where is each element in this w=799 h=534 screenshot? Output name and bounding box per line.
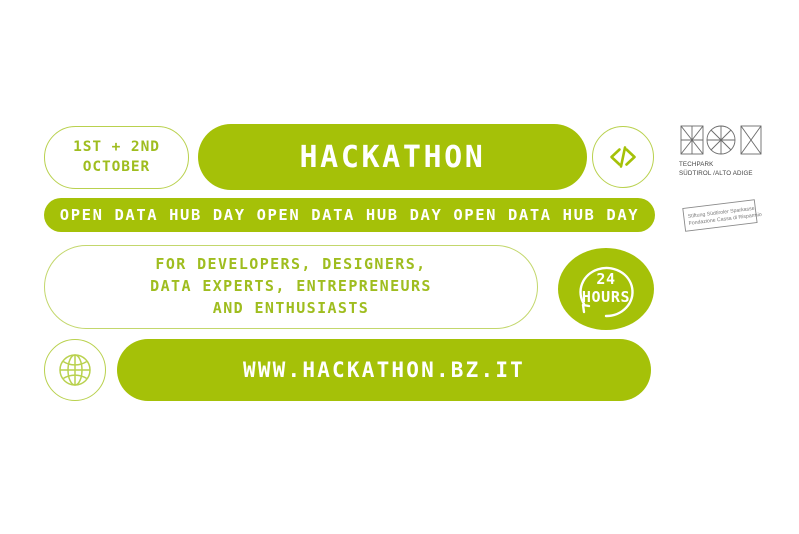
duration-label: HOURS bbox=[582, 289, 630, 307]
duration-badge: 24 HOURS bbox=[558, 248, 654, 330]
open-data-hub-day-strip: OPEN DATA HUB DAY OPEN DATA HUB DAY OPEN… bbox=[44, 198, 655, 232]
date-badge-line-2: OCTOBER bbox=[83, 158, 150, 177]
hackathon-banner: 1ST + 2ND OCTOBER HACKATHON OPEN DATA HU… bbox=[0, 0, 799, 534]
audience-line-2: DATA EXPERTS, ENTREPRENEURS bbox=[150, 276, 432, 298]
website-url-bar[interactable]: WWW.HACKATHON.BZ.IT bbox=[117, 339, 651, 401]
noi-mark-icon bbox=[679, 124, 763, 156]
date-badge-line-1: 1ST + 2ND bbox=[73, 138, 160, 157]
noi-techpark-logo: TECHPARK SÜDTIROL /ALTO ADIGE bbox=[679, 124, 763, 172]
globe-icon-badge bbox=[44, 339, 106, 401]
hackathon-title-pill: HACKATHON bbox=[198, 124, 587, 190]
globe-icon bbox=[54, 349, 96, 391]
audience-line-3: AND ENTHUSIASTS bbox=[213, 298, 369, 320]
code-icon-badge bbox=[592, 126, 654, 188]
code-icon bbox=[603, 137, 643, 177]
audience-box: FOR DEVELOPERS, DESIGNERS, DATA EXPERTS,… bbox=[44, 245, 538, 329]
strip-text: OPEN DATA HUB DAY OPEN DATA HUB DAY OPEN… bbox=[60, 206, 639, 224]
date-badge: 1ST + 2ND OCTOBER bbox=[44, 126, 189, 189]
page-title: HACKATHON bbox=[300, 140, 486, 175]
noi-caption-line-1: TECHPARK bbox=[679, 161, 763, 169]
audience-line-1: FOR DEVELOPERS, DESIGNERS, bbox=[155, 254, 426, 276]
sponsor-stamp-icon: Stiftung Südtiroler Sparkasse Fondazione… bbox=[678, 198, 762, 234]
sponsor-stamp-logo: Stiftung Südtiroler Sparkasse Fondazione… bbox=[678, 198, 762, 234]
website-url: WWW.HACKATHON.BZ.IT bbox=[243, 358, 525, 382]
noi-caption-line-2: SÜDTIROL /ALTO ADIGE bbox=[679, 170, 763, 178]
duration-number: 24 bbox=[596, 271, 615, 289]
